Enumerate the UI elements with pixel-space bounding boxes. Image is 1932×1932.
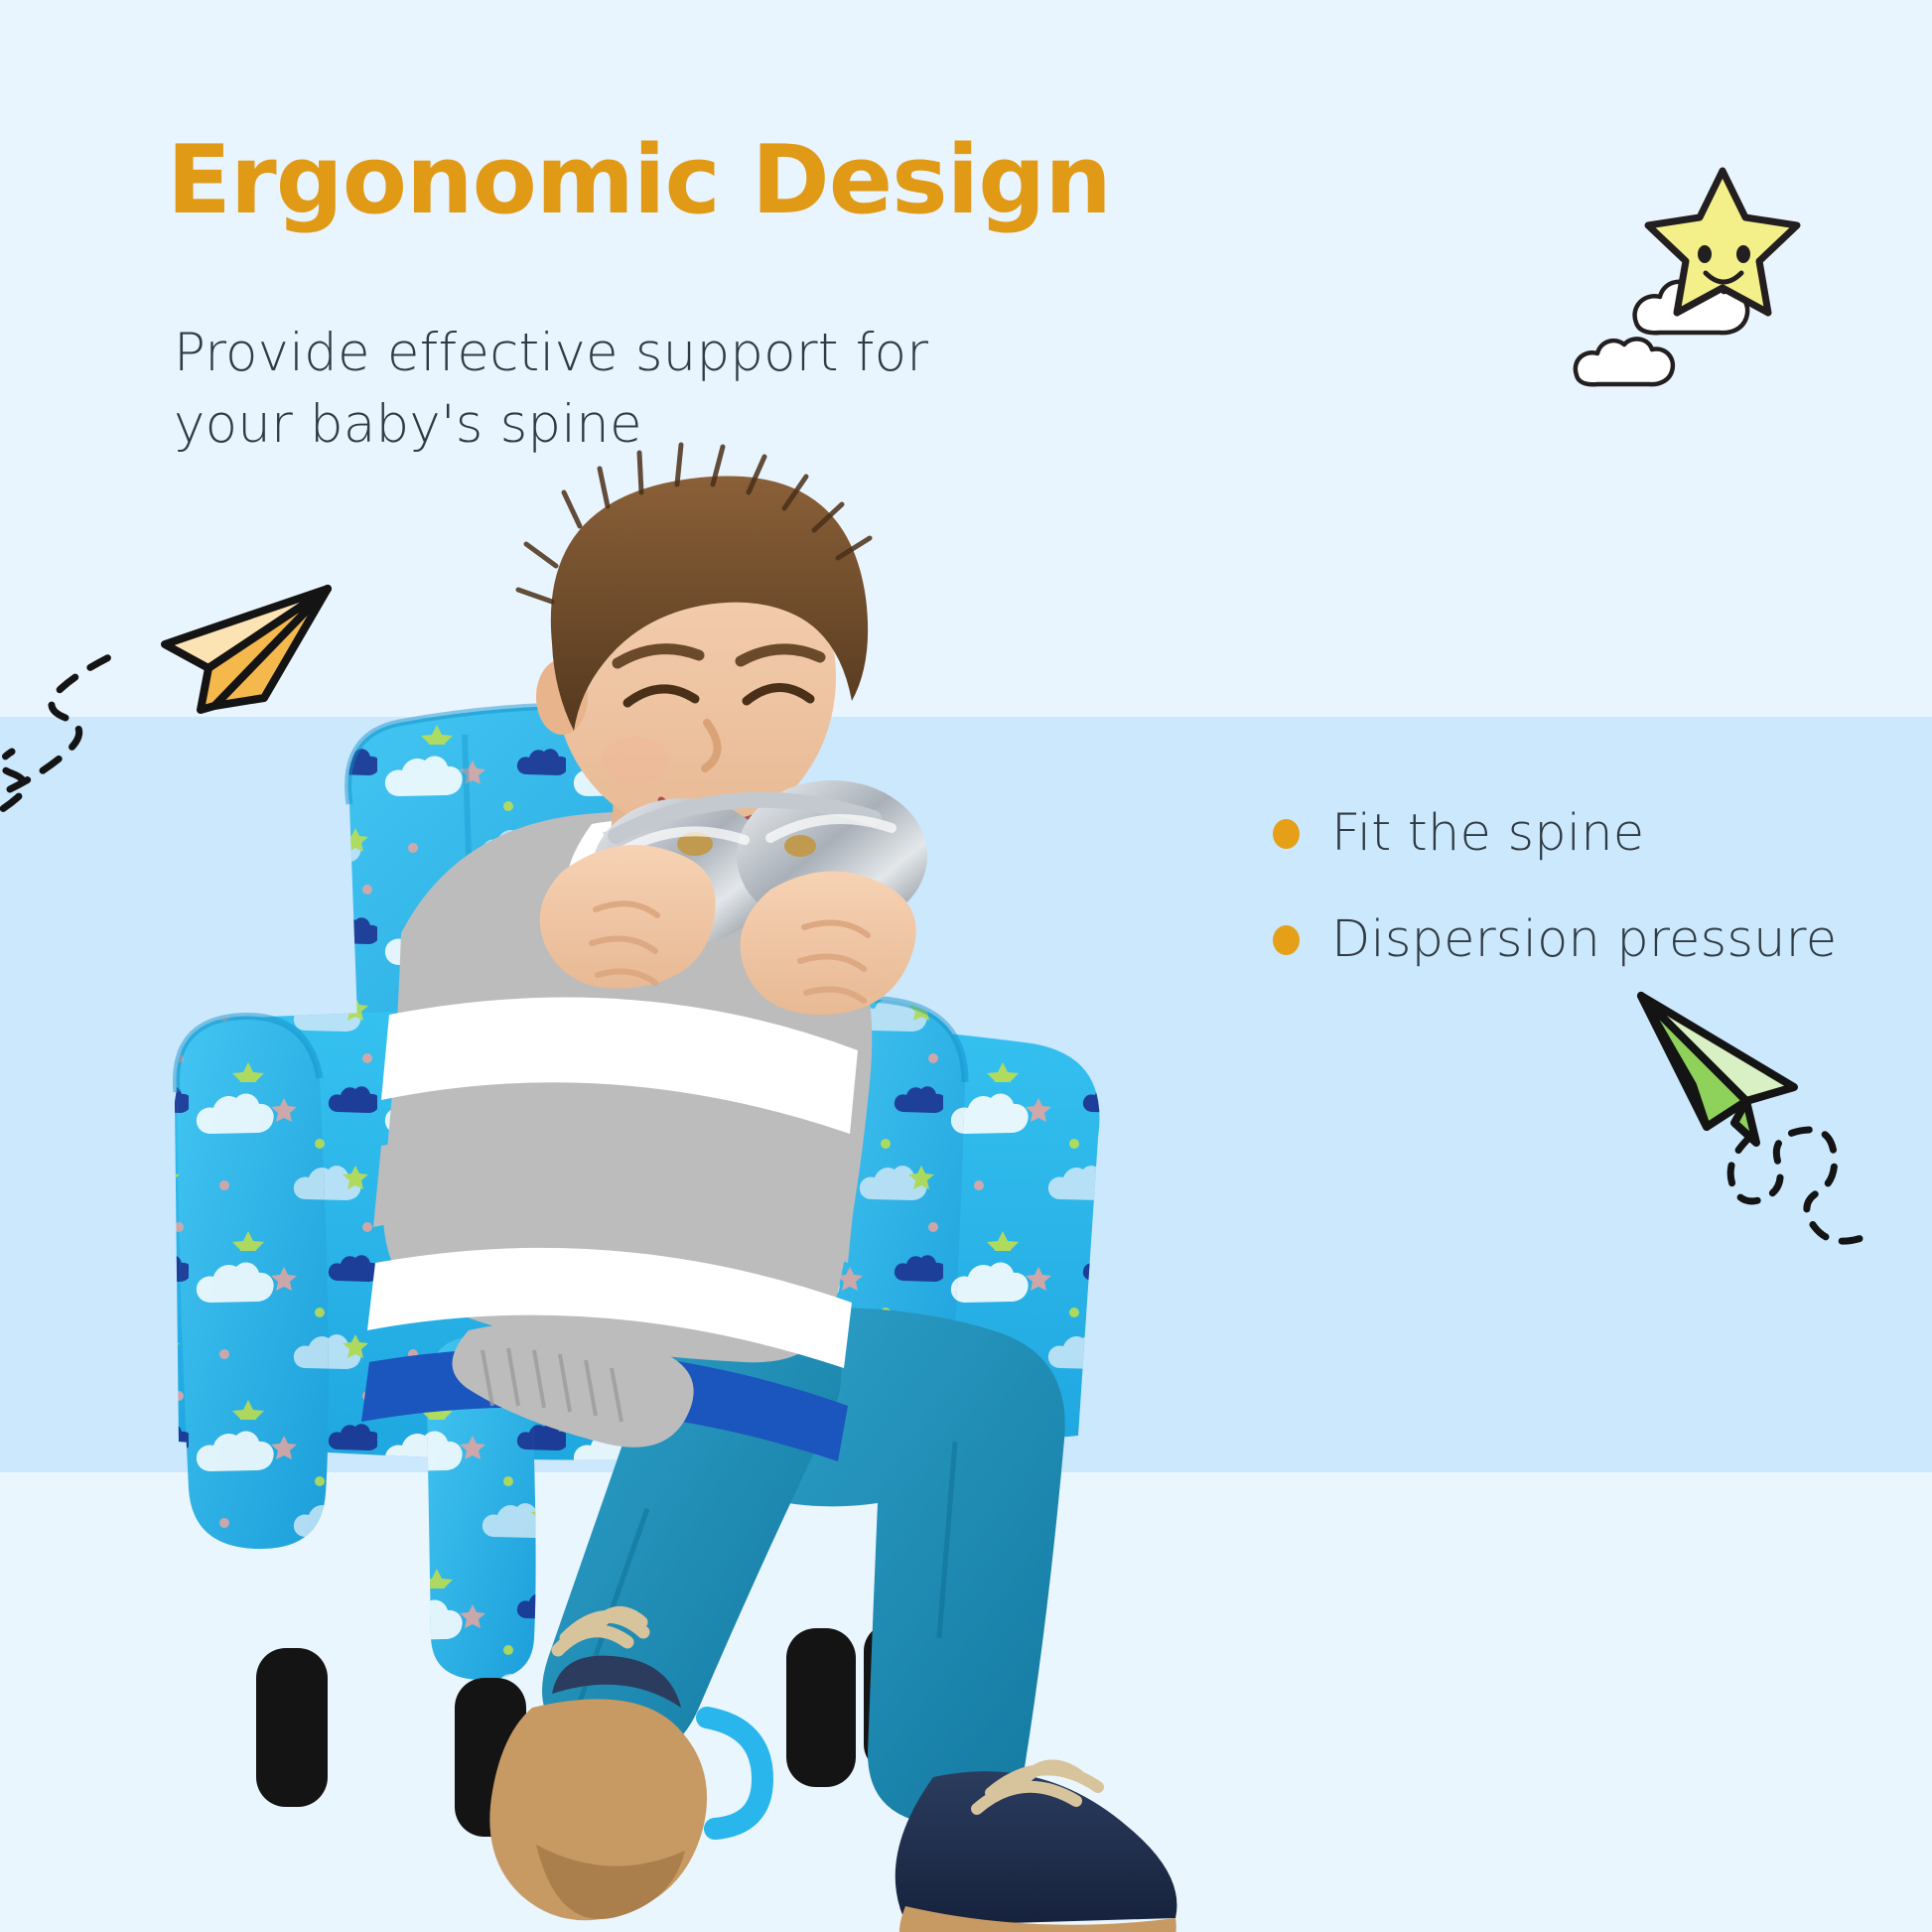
- promo-banner: Ergonomic Design Provide effective suppo…: [0, 0, 1932, 1932]
- product-photo-child-in-kids-armchair: [0, 407, 1932, 1932]
- star-eye-left: [1698, 245, 1712, 263]
- chair-armrest-left: [177, 1017, 329, 1550]
- chair-handle-loop: [707, 1718, 762, 1829]
- child-shoe-right: [896, 1765, 1177, 1932]
- smiling-star-with-clouds-icon: [1549, 139, 1896, 407]
- subtitle-line-1: Provide effective support for: [174, 318, 928, 389]
- star-eye-right: [1736, 245, 1750, 263]
- page-title: Ergonomic Design: [167, 132, 1111, 231]
